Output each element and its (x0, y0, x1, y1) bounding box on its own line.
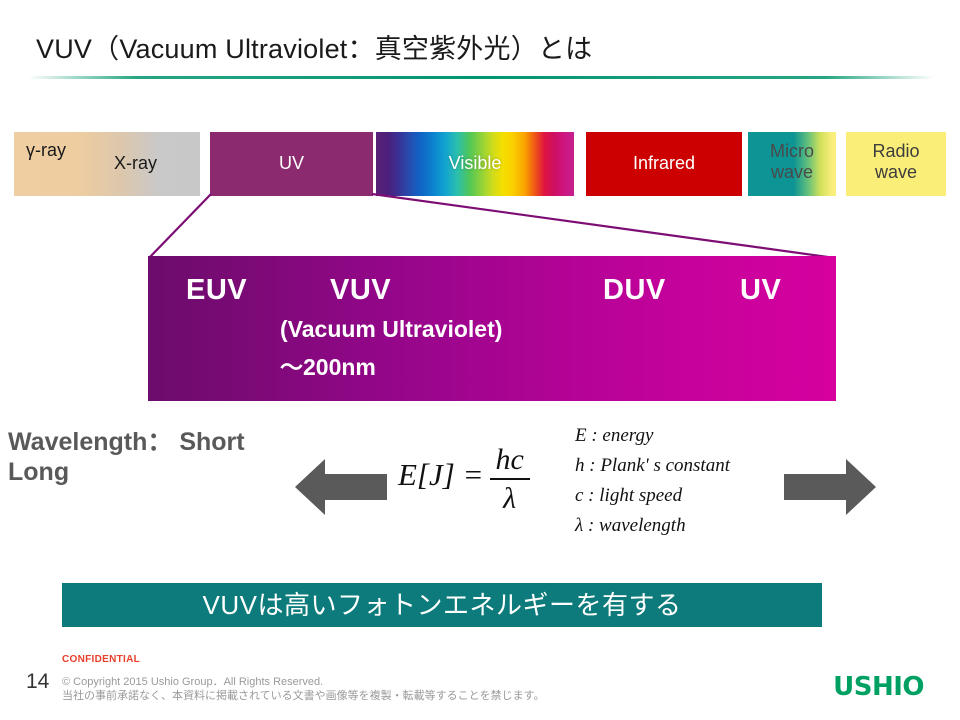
vuv-wavelength-range: 〜200nm (280, 348, 376, 382)
formula-variable-legend: E : energy h : Plank' s constant c : lig… (575, 421, 730, 541)
uv-tag-duv: DUV (603, 274, 666, 307)
spectrum-label-infrared: Infrared (586, 153, 742, 174)
vuv-expansion-text: (Vacuum Ultraviolet) (280, 316, 502, 343)
conclusion-banner-text: VUVは高いフォトンエネルギーを有する (62, 583, 822, 627)
microwave-label-line2: wave (771, 162, 813, 182)
spectrum-label-x-ray: X-ray (114, 153, 157, 174)
formula-left-hand-side: E[J] = (398, 457, 484, 492)
conclusion-banner: VUVは高いフォトンエネルギーを有する (62, 583, 822, 627)
microwave-label-line1: Micro (770, 141, 814, 161)
title-underline-rule (28, 76, 934, 79)
legend-item-wavelength: λ : wavelength (575, 511, 730, 541)
radio-label-line1: Radio (872, 141, 919, 161)
right-arrow-icon (784, 459, 876, 515)
uv-detail-box: EUV VUV DUV UV (Vacuum Ultraviolet) 〜200… (148, 256, 836, 401)
legend-item-lightspeed: c : light speed (575, 481, 730, 511)
wavelength-label-long: Long (8, 458, 69, 487)
confidential-marking: CONFIDENTIAL (62, 654, 140, 665)
ushio-logo: USHIO (833, 672, 924, 702)
formula-denominator: λ (490, 481, 530, 515)
slide-root: VUV（Vacuum Ultraviolet：真空紫外光）とは γ-ray X-… (0, 0, 960, 720)
spectrum-label-uv: UV (210, 153, 373, 174)
legend-item-planck: h : Plank' s constant (575, 451, 730, 481)
spectrum-label-microwave: Micro wave (748, 141, 836, 183)
photon-energy-formula: E[J] =hcλ (398, 446, 530, 517)
formula-fraction-bar (490, 478, 530, 480)
electromagnetic-spectrum-bar: γ-ray X-ray UV Visible Infrared Micro wa… (0, 132, 960, 196)
wavelength-label-short: Wavelength： Short (8, 422, 245, 458)
copyright-notice-ja: 当社の事前承諾なく、本資料に掲載されている文書や画像等を複製・転載等することを禁… (62, 687, 545, 703)
page-number: 14 (26, 670, 49, 694)
spectrum-segment-radio-wave: Radio wave (846, 132, 946, 196)
spectrum-label-radio-wave: Radio wave (846, 141, 946, 183)
spectrum-segment-infrared: Infrared (586, 132, 742, 196)
spectrum-segment-visible: Visible (376, 132, 574, 196)
spectrum-label-gamma-ray: γ-ray (26, 140, 66, 161)
callout-connector-lines (0, 190, 960, 265)
uv-tag-vuv: VUV (330, 274, 391, 307)
left-arrow-icon (295, 459, 387, 515)
spectrum-segment-uv[interactable]: UV (210, 132, 373, 196)
uv-tag-uv: UV (740, 274, 781, 307)
radio-label-line2: wave (875, 162, 917, 182)
spectrum-segment-gamma-xray: γ-ray X-ray (14, 132, 200, 196)
legend-item-energy: E : energy (575, 421, 730, 451)
uv-tag-euv: EUV (186, 274, 247, 307)
formula-fraction: hcλ (490, 444, 530, 515)
spectrum-label-visible: Visible (376, 153, 574, 174)
formula-numerator: hc (490, 444, 530, 477)
spectrum-segment-microwave: Micro wave (748, 132, 836, 196)
page-title: VUV（Vacuum Ultraviolet：真空紫外光）とは (36, 27, 916, 66)
